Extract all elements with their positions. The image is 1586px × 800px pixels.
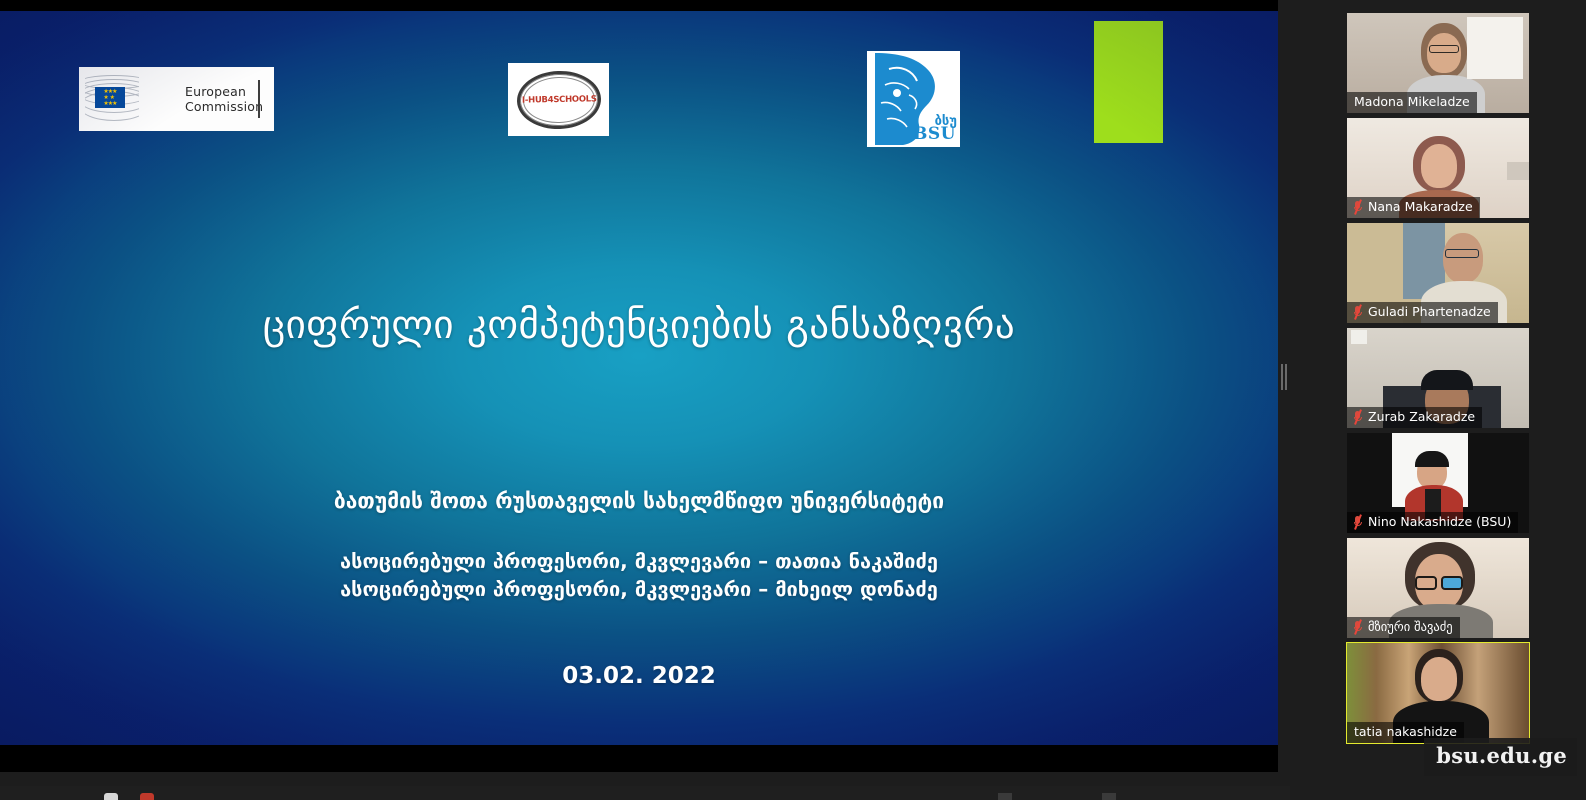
ec-divider-bar [258, 80, 260, 118]
participant-name: Zurab Zakaradze [1368, 409, 1475, 425]
participant-nameplate: Madona Mikeladze [1347, 92, 1477, 113]
i-hub4schools-logo: I-HUB4SCHOOLS [508, 63, 609, 136]
participant-name: Madona Mikeladze [1354, 94, 1470, 110]
participant-name: Guladi Phartenadze [1368, 304, 1491, 320]
participant-filmstrip[interactable]: Madona Mikeladze Nana Makaradze [1290, 0, 1586, 800]
ec-swoosh-graphic: ★★★★ ★★★★ [85, 73, 139, 125]
mic-muted-icon [1352, 620, 1363, 634]
toolbar-video-icon[interactable] [140, 793, 154, 800]
slide-author-2: ასოცირებული პროფესორი, მკვლევარი – მიხეი… [0, 575, 1278, 603]
hub-ring-graphic: I-HUB4SCHOOLS [516, 69, 602, 130]
slide-accent-block [1094, 21, 1163, 143]
bsu-abbr-label: BSU [913, 126, 956, 143]
participant-nameplate: მზიური შავაძე [1347, 617, 1460, 638]
participant-tile-guladi-phartenadze[interactable]: Guladi Phartenadze [1347, 223, 1529, 323]
eu-flag-icon: ★★★★ ★★★★ [95, 87, 125, 108]
meeting-toolbar[interactable] [0, 786, 1290, 800]
slide-authors: ასოცირებული პროფესორი, მკვლევარი – თათია… [0, 547, 1278, 603]
hub-label: I-HUB4SCHOOLS [521, 94, 596, 105]
participant-nameplate: Zurab Zakaradze [1347, 407, 1482, 428]
mic-muted-icon [1352, 410, 1363, 424]
participant-nameplate: Nino Nakashidze (BSU) [1347, 512, 1518, 533]
european-commission-logo: ★★★★ ★★★★ European Commission [79, 67, 274, 131]
participant-tile-nana-makaradze[interactable]: Nana Makaradze [1347, 118, 1529, 218]
video-conference-window: ★★★★ ★★★★ European Commission I-HUB4SCHO… [0, 0, 1586, 800]
mic-muted-icon [1352, 305, 1363, 319]
participant-tile-mziuri-shavadze[interactable]: მზიური შავაძე [1347, 538, 1529, 638]
slide-title: ციფრული კომპეტენციების განსაზღვრა [0, 303, 1278, 348]
participant-nameplate: Nana Makaradze [1347, 197, 1480, 218]
eu-stars: ★★★★ ★★★★ [103, 89, 116, 107]
mic-muted-icon [1352, 515, 1363, 529]
participant-tile-tatia-nakashidze[interactable]: tatia nakashidze [1347, 643, 1529, 743]
participant-tile-madona-mikeladze[interactable]: Madona Mikeladze [1347, 13, 1529, 113]
ec-label-line1: European [185, 84, 263, 99]
screen-share-stage[interactable]: ★★★★ ★★★★ European Commission I-HUB4SCHO… [0, 0, 1278, 772]
participant-tile-nino-nakashidze[interactable]: Nino Nakashidze (BSU) [1347, 433, 1529, 533]
mic-muted-icon [1352, 200, 1363, 214]
bsu-watermark: bsu.edu.ge [1424, 738, 1577, 776]
slide-logo-row: ★★★★ ★★★★ European Commission I-HUB4SCHO… [0, 11, 1278, 151]
ec-label: European Commission [185, 84, 263, 114]
toolbar-mic-icon[interactable] [104, 793, 118, 800]
participant-name: Nana Makaradze [1368, 199, 1473, 215]
bsu-logo: ბსუ BSU [867, 51, 960, 147]
ec-label-line2: Commission [185, 99, 263, 114]
toolbar-share-icon[interactable] [998, 793, 1012, 800]
participant-name: Nino Nakashidze (BSU) [1368, 514, 1511, 530]
participant-nameplate: Guladi Phartenadze [1347, 302, 1498, 323]
participant-tile-zurab-zakaradze[interactable]: Zurab Zakaradze [1347, 328, 1529, 428]
slide-author-1: ასოცირებული პროფესორი, მკვლევარი – თათია… [0, 547, 1278, 575]
panel-resize-handle[interactable] [1281, 364, 1288, 390]
toolbar-more-icon[interactable] [1102, 793, 1116, 800]
slide-date: 03.02. 2022 [0, 663, 1278, 689]
slide-organization: ბათუმის შოთა რუსთაველის სახელმწიფო უნივე… [0, 489, 1278, 513]
participant-name: მზიური შავაძე [1368, 619, 1453, 635]
presentation-slide[interactable]: ★★★★ ★★★★ European Commission I-HUB4SCHO… [0, 11, 1278, 745]
